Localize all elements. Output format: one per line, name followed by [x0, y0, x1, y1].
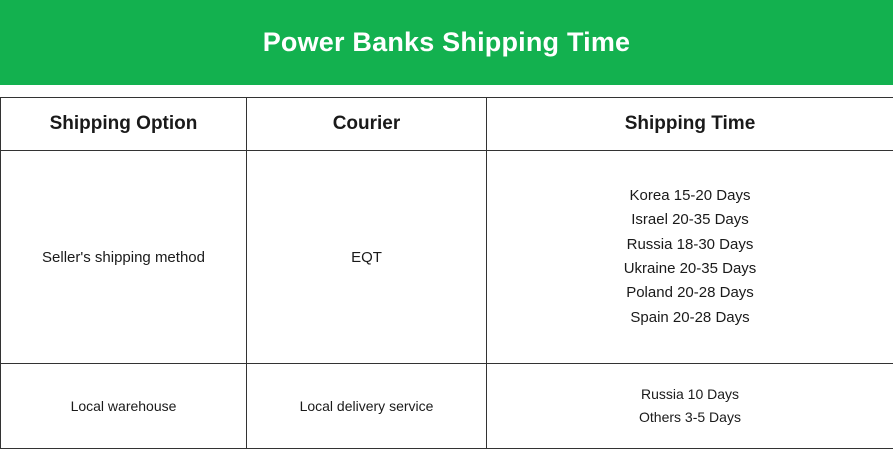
- shipping-table: Shipping Option Courier Shipping Time Se…: [0, 97, 893, 449]
- shipping-time-line: Poland 20-28 Days: [487, 281, 893, 305]
- cell-courier-local: Local delivery service: [247, 364, 487, 449]
- cell-shipping-times-local: Russia 10 Days Others 3-5 Days: [487, 364, 893, 449]
- banner-table-divider: [0, 85, 893, 97]
- shipping-time-line: Ukraine 20-35 Days: [487, 257, 893, 281]
- header-banner: Power Banks Shipping Time: [0, 0, 893, 85]
- table-header: Shipping Option Courier Shipping Time: [1, 98, 893, 151]
- shipping-time-line: Russia 10 Days: [487, 383, 893, 406]
- table-row: Local warehouse Local delivery service R…: [1, 364, 893, 449]
- cell-courier-eqt: EQT: [247, 151, 487, 364]
- table-header-row: Shipping Option Courier Shipping Time: [1, 98, 893, 151]
- table-row: Seller's shipping method EQT Korea 15-20…: [1, 151, 893, 364]
- shipping-table-container: Shipping Option Courier Shipping Time Se…: [0, 97, 893, 449]
- column-header-shipping-time: Shipping Time: [487, 98, 893, 151]
- cell-shipping-times-seller: Korea 15-20 Days Israel 20-35 Days Russi…: [487, 151, 893, 364]
- column-header-shipping-option: Shipping Option: [1, 98, 247, 151]
- shipping-time-line: Others 3-5 Days: [487, 406, 893, 429]
- table-body: Seller's shipping method EQT Korea 15-20…: [1, 151, 893, 449]
- shipping-time-line: Korea 15-20 Days: [487, 184, 893, 208]
- shipping-time-line: Russia 18-30 Days: [487, 233, 893, 257]
- column-header-courier: Courier: [247, 98, 487, 151]
- shipping-time-infographic: Power Banks Shipping Time Shipping Optio…: [0, 0, 893, 450]
- page-title: Power Banks Shipping Time: [263, 28, 631, 58]
- cell-shipping-option-local: Local warehouse: [1, 364, 247, 449]
- cell-shipping-option-seller: Seller's shipping method: [1, 151, 247, 364]
- shipping-time-line: Israel 20-35 Days: [487, 208, 893, 232]
- shipping-time-line: Spain 20-28 Days: [487, 306, 893, 330]
